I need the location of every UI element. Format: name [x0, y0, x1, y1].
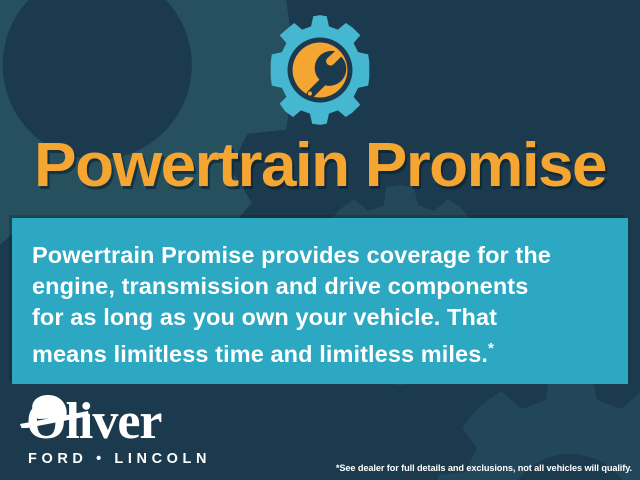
logo-mark: Oliver: [16, 394, 208, 450]
powertrain-promise-poster: Powertrain Promise Powertrain Promise pr…: [0, 0, 640, 480]
promise-line-4-text: means limitless time and limitless miles…: [32, 341, 488, 367]
bowler-hat-icon: [18, 394, 92, 428]
promise-description-text: Powertrain Promise provides coverage for…: [32, 240, 610, 370]
promise-line-2: engine, transmission and drive component…: [32, 271, 610, 302]
promise-line-3: for as long as you own your vehicle. Tha…: [32, 302, 610, 333]
oliver-dealership-logo[interactable]: Oliver FORD • LINCOLN: [16, 394, 208, 472]
promise-line-4: means limitless time and limitless miles…: [32, 333, 610, 370]
page-title: Powertrain Promise: [0, 130, 640, 202]
gear-wrench-icon: [264, 14, 376, 126]
promise-description-panel: Powertrain Promise provides coverage for…: [12, 218, 628, 384]
disclaimer-text: *See dealer for full details and exclusi…: [336, 463, 632, 473]
footnote-asterisk: *: [488, 340, 494, 357]
promise-line-1: Powertrain Promise provides coverage for…: [32, 240, 610, 271]
logo-tagline: FORD • LINCOLN: [28, 451, 211, 467]
